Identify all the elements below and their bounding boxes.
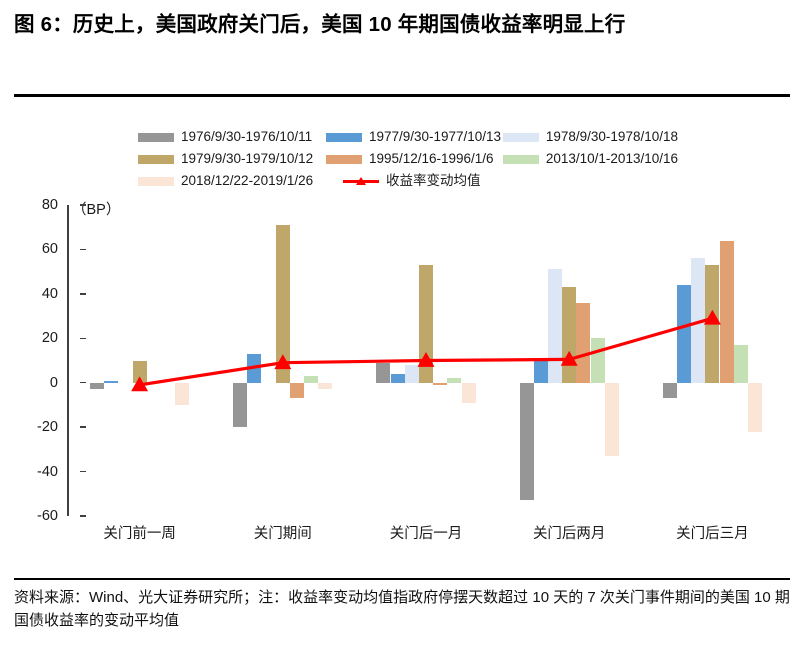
page-title: 图 6：历史上，美国政府关门后，美国 10 年期国债收益率明显上行 — [14, 10, 790, 39]
footer-divider — [14, 578, 790, 580]
y-axis-tick-label: 80 — [24, 197, 58, 213]
bar — [720, 241, 734, 383]
x-axis-label: 关门期间 — [254, 522, 312, 543]
chart-legend: 1976/9/30-1976/10/111977/9/30-1977/10/13… — [138, 126, 678, 192]
chart-area: （BP） 806040200-20-40-60 关门前一周关门期间关门后一月关门… — [0, 196, 804, 536]
bar — [133, 361, 147, 383]
legend-item[interactable]: 1979/9/30-1979/10/12 — [138, 148, 326, 170]
y-axis-tick-label: 20 — [24, 330, 58, 346]
bar — [90, 383, 104, 390]
bar — [677, 285, 691, 383]
legend-label: 1979/9/30-1979/10/12 — [181, 152, 313, 166]
legend-row: 1979/9/30-1979/10/121995/12/16-1996/1/62… — [138, 148, 678, 170]
legend-color-swatch — [138, 133, 174, 142]
bar — [534, 361, 548, 383]
y-axis-tick-label: 0 — [24, 375, 58, 391]
bar — [691, 258, 705, 382]
x-axis-label: 关门后三月 — [676, 522, 749, 543]
legend-label: 2018/12/22-2019/1/26 — [181, 174, 313, 188]
legend-row: 2018/12/22-2019/1/26收益率变动均值 — [138, 170, 678, 192]
legend-row: 1976/9/30-1976/10/111977/9/30-1977/10/13… — [138, 126, 678, 148]
bar — [175, 383, 189, 405]
bar — [520, 383, 534, 501]
legend-label: 2013/10/1-2013/10/16 — [546, 152, 678, 166]
bar — [705, 265, 719, 383]
bar — [447, 378, 461, 382]
legend-line-marker-icon — [343, 175, 379, 187]
bar — [462, 383, 476, 403]
legend-color-swatch — [326, 133, 362, 142]
y-axis-ticks: 806040200-20-40-60 — [18, 196, 58, 516]
legend-label: 收益率变动均值 — [386, 174, 481, 188]
bar — [433, 383, 447, 385]
bar — [376, 363, 390, 383]
y-axis-tick-label: 40 — [24, 286, 58, 302]
bar — [591, 338, 605, 382]
x-axis-label: 关门前一周 — [103, 522, 176, 543]
y-axis-tick-label: -60 — [24, 508, 58, 524]
legend-label: 1977/9/30-1977/10/13 — [369, 130, 501, 144]
y-axis-tick-label: -40 — [24, 464, 58, 480]
bar — [290, 383, 304, 399]
bar — [734, 345, 748, 383]
y-axis-tick-label: 60 — [24, 241, 58, 257]
bar — [247, 354, 261, 383]
y-axis-tick-label: -20 — [24, 419, 58, 435]
bar — [576, 303, 590, 383]
bar — [318, 383, 332, 390]
legend-label: 1976/9/30-1976/10/11 — [181, 130, 312, 144]
bar — [663, 383, 677, 399]
legend-color-swatch — [326, 155, 362, 164]
bar — [391, 374, 405, 383]
source-footnote: 资料来源：Wind、光大证券研究所；注：收益率变动均值指政府停摆天数超过 10 … — [14, 586, 790, 633]
legend-item[interactable]: 2018/12/22-2019/1/26 — [138, 170, 343, 192]
bar — [419, 265, 433, 383]
bar — [276, 225, 290, 383]
figure-title-block: 图 6：历史上，美国政府关门后，美国 10 年期国债收益率明显上行 — [14, 10, 790, 39]
bar — [233, 383, 247, 427]
legend-label: 1995/12/16-1996/1/6 — [369, 152, 494, 166]
title-divider — [14, 94, 790, 97]
legend-color-swatch — [138, 177, 174, 186]
plot-bars — [68, 205, 784, 516]
bar — [405, 365, 419, 383]
legend-color-swatch — [138, 155, 174, 164]
legend-color-swatch — [503, 155, 539, 164]
legend-item[interactable]: 1978/9/30-1978/10/18 — [503, 126, 678, 148]
legend-item[interactable]: 1995/12/16-1996/1/6 — [326, 148, 503, 170]
bar — [562, 287, 576, 383]
legend-item[interactable]: 收益率变动均值 — [343, 170, 536, 192]
bar — [748, 383, 762, 432]
chart-page: 图 6：历史上，美国政府关门后，美国 10 年期国债收益率明显上行 1976/9… — [0, 0, 804, 645]
bar — [304, 376, 318, 383]
x-axis-label: 关门后两月 — [533, 522, 606, 543]
bar — [104, 381, 118, 383]
legend-item[interactable]: 1976/9/30-1976/10/11 — [138, 126, 326, 148]
legend-color-swatch — [503, 133, 539, 142]
x-axis-label: 关门后一月 — [390, 522, 463, 543]
bar — [548, 269, 562, 382]
legend-item[interactable]: 2013/10/1-2013/10/16 — [503, 148, 678, 170]
legend-item[interactable]: 1977/9/30-1977/10/13 — [326, 126, 503, 148]
legend-label: 1978/9/30-1978/10/18 — [546, 130, 678, 144]
bar — [605, 383, 619, 456]
